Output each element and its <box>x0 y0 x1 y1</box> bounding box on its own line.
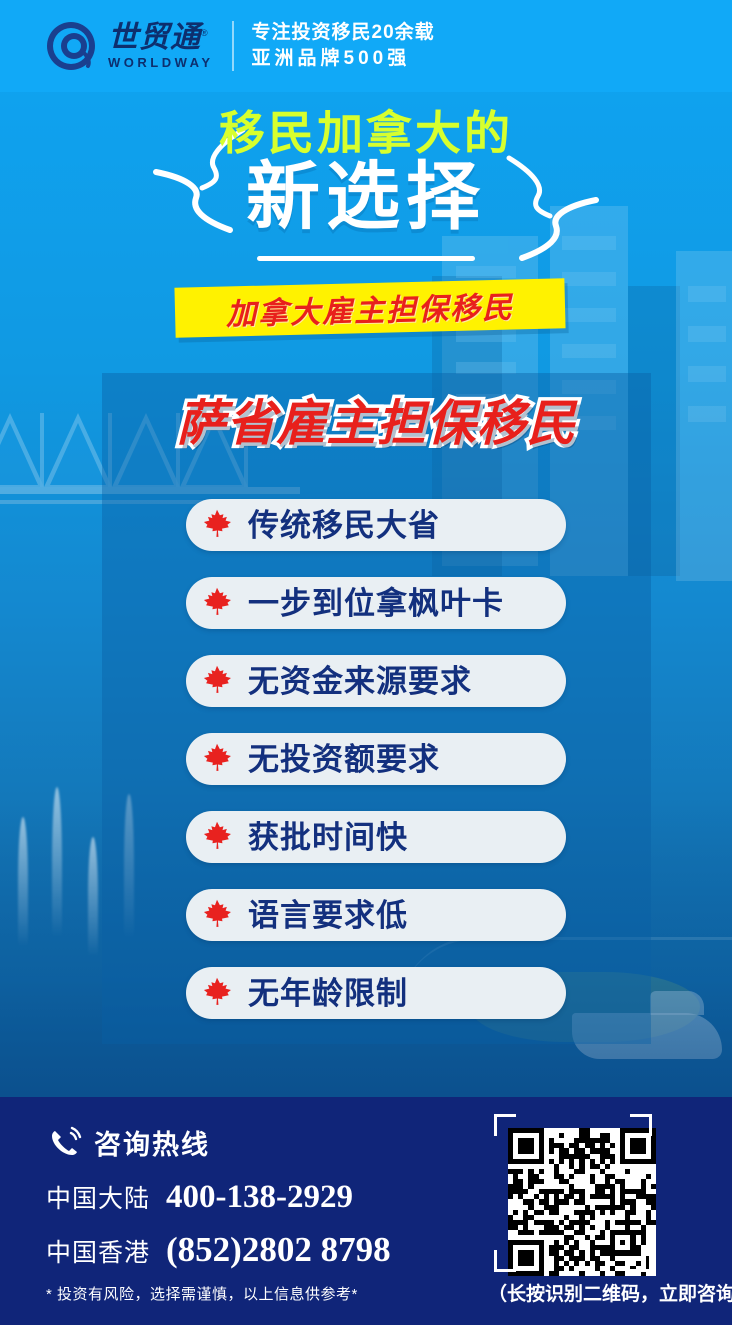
hero-line-2: 新选择 <box>0 160 732 234</box>
feature-pill[interactable]: 无年龄限制 <box>186 967 566 1019</box>
brand-slogan: 专注投资移民20余载 亚洲品牌500强 <box>252 20 435 71</box>
promotional-poster: 世贸通® WORLDWAY 专注投资移民20余载 亚洲品牌500强 移民加拿大的… <box>0 0 732 1325</box>
feature-pill[interactable]: 语言要求低 <box>186 889 566 941</box>
maple-leaf-icon <box>200 820 234 854</box>
feature-label: 一步到位拿枫叶卡 <box>248 588 504 619</box>
contact-row-hongkong: 中国香港 (852)2802 8798 <box>46 1230 391 1270</box>
hero-headline: 移民加拿大的 新选择 <box>0 96 732 306</box>
maple-leaf-icon <box>200 508 234 542</box>
worldway-spiral-logo-icon <box>44 19 98 73</box>
phone-ringing-icon <box>48 1126 82 1160</box>
hero-line-1: 移民加拿大的 <box>0 110 732 156</box>
feature-pill[interactable]: 传统移民大省 <box>186 499 566 551</box>
phone-number[interactable]: (852)2802 8798 <box>166 1230 391 1270</box>
ribbon-banner: 加拿大雇主担保移民 <box>174 278 565 338</box>
qr-section: （长按识别二维码，立即咨询） <box>488 1119 658 1306</box>
feature-pill[interactable]: 一步到位拿枫叶卡 <box>186 577 566 629</box>
region-label: 中国香港 <box>46 1233 150 1269</box>
qr-corner-bl <box>494 1250 516 1272</box>
slogan-line-1: 专注投资移民20余载 <box>252 20 435 46</box>
feature-label: 传统移民大省 <box>248 510 440 541</box>
maple-leaf-icon <box>200 586 234 620</box>
header-divider <box>232 21 234 71</box>
maple-leaf-icon <box>200 664 234 698</box>
feature-label: 无年龄限制 <box>248 978 408 1009</box>
qr-caption: （长按识别二维码，立即咨询） <box>488 1279 658 1306</box>
feature-label: 获批时间快 <box>248 822 408 853</box>
maple-leaf-icon <box>200 742 234 776</box>
phone-number[interactable]: 400-138-2929 <box>166 1179 353 1216</box>
registered-mark: ® <box>201 28 209 38</box>
region-label: 中国大陆 <box>46 1179 150 1215</box>
contact-footer: 咨询热线 中国大陆 400-138-2929 中国香港 (852)2802 87… <box>0 1097 732 1325</box>
brand-name-cn: 世贸通® <box>108 23 214 53</box>
feature-label: 无资金来源要求 <box>248 666 472 697</box>
maple-leaf-icon <box>200 976 234 1010</box>
feature-label: 语言要求低 <box>248 900 408 931</box>
feature-label: 无投资额要求 <box>248 744 440 775</box>
contact-row-mainland: 中国大陆 400-138-2929 <box>46 1179 353 1216</box>
program-card: 萨省雇主担保移民 传统移民大省一步到位拿枫叶卡无资金来源要求无投资额要求获批时间… <box>102 373 651 1044</box>
feature-pill[interactable]: 无资金来源要求 <box>186 655 566 707</box>
qr-corner-tr <box>630 1114 652 1136</box>
brand-wordmark: 世贸通® WORLDWAY <box>108 23 214 69</box>
qr-corner-tl <box>494 1114 516 1136</box>
brand-name-en: WORLDWAY <box>108 56 214 69</box>
hero-underline <box>257 256 475 261</box>
feature-pill[interactable]: 获批时间快 <box>186 811 566 863</box>
feature-list: 传统移民大省一步到位拿枫叶卡无资金来源要求无投资额要求获批时间快语言要求低无年龄… <box>186 499 566 1045</box>
disclaimer-text: * 投资有风险，选择需谨慎，以上信息供参考* <box>46 1283 358 1304</box>
hotline-label: 咨询热线 <box>94 1123 210 1162</box>
slogan-line-2: 亚洲品牌500强 <box>252 46 435 72</box>
qr-corner-br <box>630 1250 652 1272</box>
ribbon-label: 加拿大雇主担保移民 <box>226 282 515 333</box>
maple-leaf-icon <box>200 898 234 932</box>
brand-header: 世贸通® WORLDWAY 专注投资移民20余载 亚洲品牌500强 <box>0 0 732 92</box>
qr-frame <box>499 1119 647 1267</box>
hotline-header: 咨询热线 <box>48 1123 210 1162</box>
card-title: 萨省雇主担保移民 <box>102 400 651 449</box>
feature-pill[interactable]: 无投资额要求 <box>186 733 566 785</box>
